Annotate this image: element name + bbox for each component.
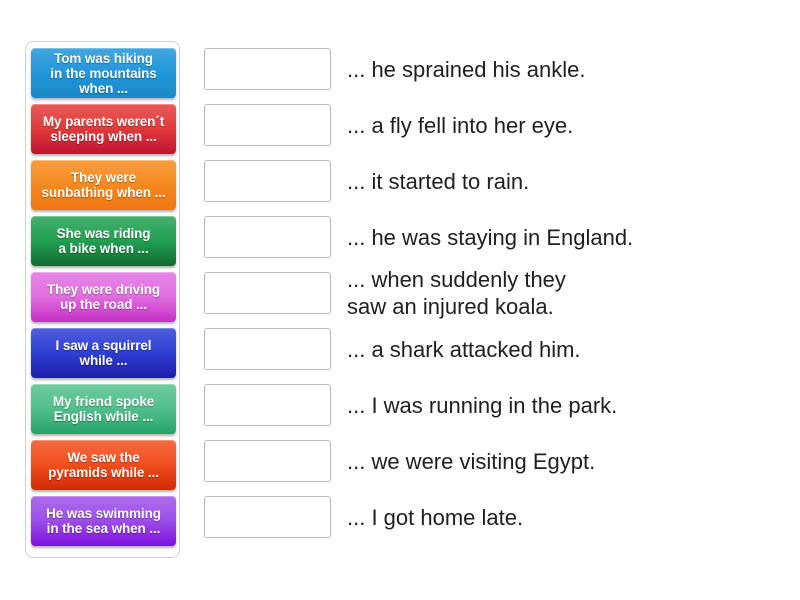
dropzone-9[interactable]	[204, 496, 331, 538]
answer-text: ... I was running in the park.	[347, 392, 617, 419]
draggable-tile-1[interactable]: Tom was hiking in the mountains when ...	[31, 48, 176, 98]
draggable-tile-5[interactable]: They were driving up the road ...	[31, 272, 176, 322]
dropzone-6[interactable]	[204, 328, 331, 370]
tile-label: My parents weren´t sleeping when ...	[43, 114, 164, 144]
draggable-tile-7[interactable]: My friend spoke English while ...	[31, 384, 176, 434]
draggable-tile-4[interactable]: She was riding a bike when ...	[31, 216, 176, 266]
answer-row: ... we were visiting Egypt.	[204, 433, 784, 489]
tile-label: Tom was hiking in the mountains when ...	[50, 51, 156, 96]
tile-label: My friend spoke English while ...	[53, 394, 154, 424]
answer-rows-list: ... he sprained his ankle.... a fly fell…	[204, 41, 784, 545]
answer-text: ... it started to rain.	[347, 168, 529, 195]
dropzone-4[interactable]	[204, 216, 331, 258]
dropzone-3[interactable]	[204, 160, 331, 202]
answer-text: ... a fly fell into her eye.	[347, 112, 573, 139]
answer-row: ... a fly fell into her eye.	[204, 97, 784, 153]
draggable-tile-8[interactable]: We saw the pyramids while ...	[31, 440, 176, 490]
tile-label: We saw the pyramids while ...	[48, 450, 159, 480]
tile-label: They were sunbathing when ...	[41, 170, 165, 200]
answer-text: ... he was staying in England.	[347, 224, 633, 251]
answer-row: ... I got home late.	[204, 489, 784, 545]
answer-text: ... a shark attacked him.	[347, 336, 581, 363]
answer-row: ... when suddenly they saw an injured ko…	[204, 265, 784, 321]
answer-text: ... I got home late.	[347, 504, 523, 531]
answer-row: ... he sprained his ankle.	[204, 41, 784, 97]
answer-text: ... we were visiting Egypt.	[347, 448, 595, 475]
draggable-tile-9[interactable]: He was swimming in the sea when ...	[31, 496, 176, 546]
draggable-tile-3[interactable]: They were sunbathing when ...	[31, 160, 176, 210]
draggable-tile-6[interactable]: I saw a squirrel while ...	[31, 328, 176, 378]
tile-label: I saw a squirrel while ...	[56, 338, 152, 368]
answer-text: ... he sprained his ankle.	[347, 56, 585, 83]
dropzone-2[interactable]	[204, 104, 331, 146]
answer-row: ... it started to rain.	[204, 153, 784, 209]
dropzone-5[interactable]	[204, 272, 331, 314]
tile-label: They were driving up the road ...	[47, 282, 160, 312]
answer-text: ... when suddenly they saw an injured ko…	[347, 266, 566, 320]
tile-label: She was riding a bike when ...	[57, 226, 151, 256]
dropzone-8[interactable]	[204, 440, 331, 482]
answer-row: ... a shark attacked him.	[204, 321, 784, 377]
draggable-tile-2[interactable]: My parents weren´t sleeping when ...	[31, 104, 176, 154]
dropzone-7[interactable]	[204, 384, 331, 426]
answer-row: ... he was staying in England.	[204, 209, 784, 265]
dropzone-1[interactable]	[204, 48, 331, 90]
answer-row: ... I was running in the park.	[204, 377, 784, 433]
tile-label: He was swimming in the sea when ...	[46, 506, 161, 536]
draggable-tiles-tray: Tom was hiking in the mountains when ...…	[25, 41, 180, 558]
match-up-activity: Tom was hiking in the mountains when ...…	[0, 0, 800, 600]
